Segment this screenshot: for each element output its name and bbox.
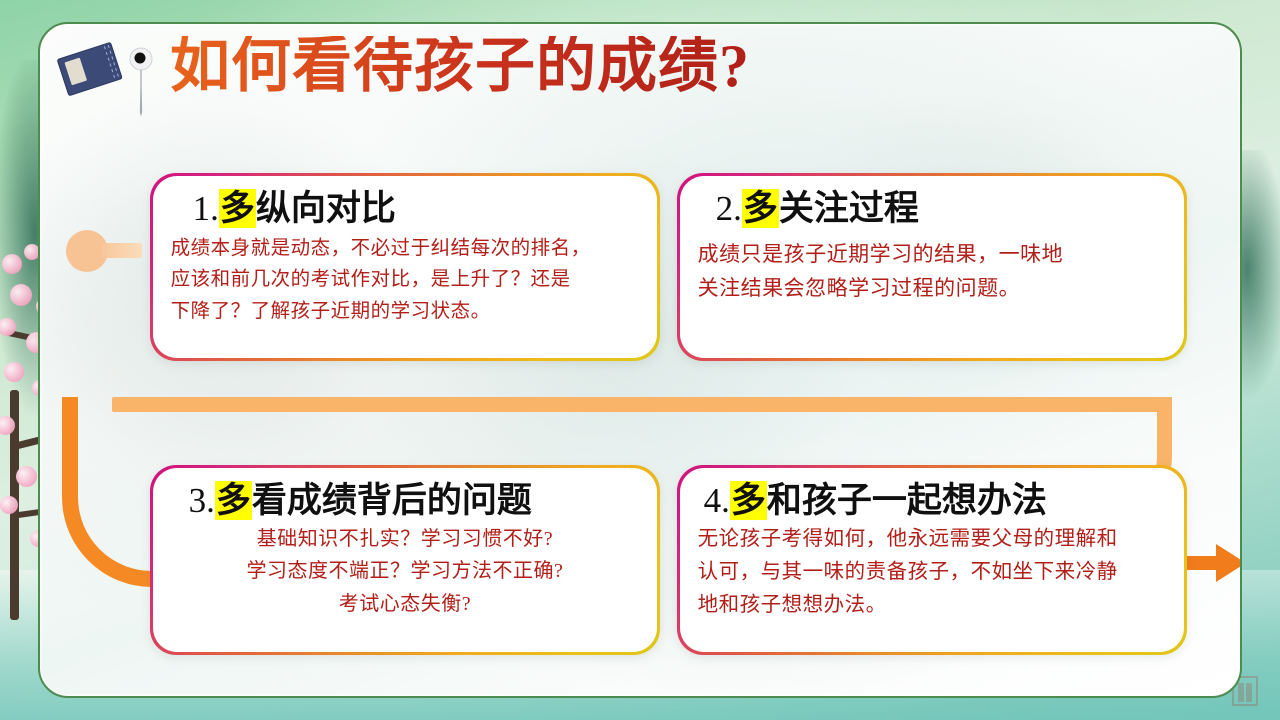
idea-card-3[interactable]: 3.多看成绩背后的问题 基础知识不扎实？学习习惯不好? 学习态度不端正？学习方法… <box>150 465 660 655</box>
idea-card-2-heading: 2.多关注过程 <box>698 188 1167 229</box>
idea-card-3-highlight: 多 <box>215 481 252 520</box>
content-panel: 如何看待孩子的成绩? 1.多纵向对比 成绩本身就是动态，不必过于纠结每次的排名， <box>38 22 1242 698</box>
idea-card-1-body-line: 应该和前几次的考试作对比，是上升了？还是 <box>171 264 640 296</box>
idea-card-4-body-line: 无论孩子考得如何，他永远需要父母的理解和 <box>698 523 1167 556</box>
idea-card-1-body-line: 下降了？了解孩子近期的学习状态。 <box>171 296 640 328</box>
idea-card-2-body-line: 成绩只是孩子近期学习的结果，一味地 <box>698 237 1167 271</box>
idea-card-3-number: 3. <box>189 481 215 520</box>
idea-card-4-inner: 4.多和孩子一起想办法 无论孩子考得如何，他永远需要父母的理解和 认可，与其一味… <box>680 468 1185 653</box>
book-icon <box>54 40 126 100</box>
idea-card-3-body-line: 学习态度不端正？学习方法不正确? <box>171 555 640 587</box>
idea-card-3-inner: 3.多看成绩背后的问题 基础知识不扎实？学习习惯不好? 学习态度不端正？学习方法… <box>153 468 658 653</box>
flow-start-stub <box>102 243 142 258</box>
idea-card-4-body-line: 认可，与其一味的责备孩子，不如坐下来冷静 <box>698 556 1167 589</box>
flow-start-dot <box>66 230 108 272</box>
idea-card-2-heading-rest: 关注过程 <box>779 189 919 228</box>
page-title: 如何看待孩子的成绩? <box>170 36 750 96</box>
idea-card-3-body-line: 基础知识不扎实？学习习惯不好? <box>171 523 640 555</box>
idea-card-2-number: 2. <box>716 189 742 228</box>
idea-card-4-highlight: 多 <box>730 481 767 520</box>
idea-card-3-heading: 3.多看成绩背后的问题 <box>171 480 640 521</box>
idea-card-1-heading: 1.多纵向对比 <box>171 188 640 229</box>
pushpin-icon <box>128 46 154 118</box>
idea-card-3-body-line: 考试心态失衡? <box>171 588 640 620</box>
idea-card-1-highlight: 多 <box>219 189 256 228</box>
idea-card-2-body-line: 关注结果会忽略学习过程的问题。 <box>698 271 1167 305</box>
flow-horizontal-line <box>112 397 1172 412</box>
slide-header: 如何看待孩子的成绩? <box>40 24 1240 144</box>
idea-card-4-heading-rest: 和孩子一起想办法 <box>767 481 1047 520</box>
idea-card-4-heading: 4.多和孩子一起想办法 <box>698 480 1167 521</box>
idea-card-1-body-line: 成绩本身就是动态，不必过于纠结每次的排名， <box>171 233 640 265</box>
idea-card-2[interactable]: 2.多关注过程 成绩只是孩子近期学习的结果，一味地 关注结果会忽略学习过程的问题… <box>677 173 1187 361</box>
idea-card-2-highlight: 多 <box>742 189 779 228</box>
idea-card-3-body: 基础知识不扎实？学习习惯不好? 学习态度不端正？学习方法不正确? 考试心态失衡? <box>171 521 640 620</box>
idea-card-1-number: 1. <box>193 189 219 228</box>
idea-card-1-heading-rest: 纵向对比 <box>256 189 396 228</box>
idea-card-1-inner: 1.多纵向对比 成绩本身就是动态，不必过于纠结每次的排名， 应该和前几次的考试作… <box>153 176 658 359</box>
idea-card-4-number: 4. <box>704 481 730 520</box>
idea-card-2-inner: 2.多关注过程 成绩只是孩子近期学习的结果，一味地 关注结果会忽略学习过程的问题… <box>680 176 1185 359</box>
idea-card-4-body: 无论孩子考得如何，他永远需要父母的理解和 认可，与其一味的责备孩子，不如坐下来冷… <box>698 521 1167 623</box>
idea-card-4-body-line: 地和孩子想想办法。 <box>698 589 1167 622</box>
flow-arrow-icon <box>1180 544 1242 582</box>
idea-card-2-body: 成绩只是孩子近期学习的结果，一味地 关注结果会忽略学习过程的问题。 <box>698 229 1167 305</box>
idea-card-1-body: 成绩本身就是动态，不必过于纠结每次的排名， 应该和前几次的考试作对比，是上升了？… <box>171 229 640 328</box>
idea-card-4[interactable]: 4.多和孩子一起想办法 无论孩子考得如何，他永远需要父母的理解和 认可，与其一味… <box>677 465 1187 655</box>
idea-card-1[interactable]: 1.多纵向对比 成绩本身就是动态，不必过于纠结每次的排名， 应该和前几次的考试作… <box>150 173 660 361</box>
slide-canvas: 如何看待孩子的成绩? 1.多纵向对比 成绩本身就是动态，不必过于纠结每次的排名， <box>0 0 1280 720</box>
idea-card-3-heading-rest: 看成绩背后的问题 <box>252 481 532 520</box>
